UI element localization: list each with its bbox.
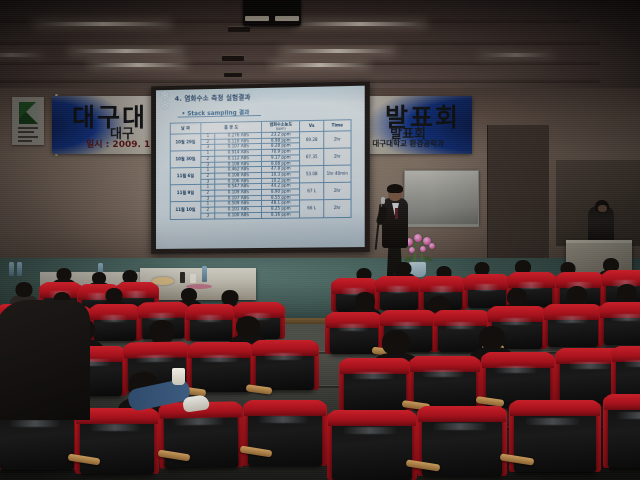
cell-vs: 69.28	[300, 131, 324, 149]
th-date: 날 짜	[170, 123, 200, 135]
slide-results-table: 날 짜 흡 광 도 염화수소농도 (ppm) Vs Time 10월 29일10…	[170, 119, 352, 219]
auditorium-seat[interactable]	[604, 306, 640, 345]
cell-vs: 67.35	[300, 149, 324, 167]
audience-head	[236, 316, 260, 337]
whiteboard-marker-tray	[405, 224, 479, 227]
wall-door	[487, 125, 549, 275]
auditorium-seat[interactable]	[548, 308, 598, 347]
podium-operator-face	[598, 205, 607, 212]
audience-head	[222, 290, 239, 305]
th-time: Time	[324, 120, 351, 132]
water-bottle	[202, 266, 207, 282]
cell-vs: 53.08	[300, 166, 324, 184]
microphone-icon	[381, 197, 385, 204]
auditorium-seat[interactable]	[192, 346, 250, 392]
whiteboard	[404, 170, 479, 225]
cell-date: 10월 29일	[170, 134, 200, 152]
cell-date: 11월 10일	[170, 202, 200, 219]
conference-room-photo: 대구대 발표회 대구 발표회 일시 : 2009. 11. 20 대구대학교 환…	[0, 0, 640, 480]
cell-vs: 66 L	[300, 200, 324, 217]
cell-time: 2hr	[324, 200, 351, 218]
audience-head	[57, 268, 72, 281]
cell-date: 11월 9일	[170, 185, 200, 202]
table-body: 10월 29일10.276 ABS23.2 ppm69.282hr20.110 …	[170, 131, 351, 219]
cell-time: 1hr 40min	[324, 165, 351, 183]
audience-head	[567, 286, 587, 304]
auditorium-seat[interactable]	[344, 362, 406, 412]
beverage-can	[180, 272, 185, 283]
auditorium-seat[interactable]	[190, 308, 232, 341]
snowflake-icon: ❄❄	[158, 91, 172, 119]
auditorium-seat[interactable]	[256, 344, 314, 390]
audience-head	[181, 288, 197, 302]
slide-title: 4. 염화수소 측정 실험결과	[175, 91, 251, 103]
paper-cup	[190, 274, 196, 283]
water-bottle	[9, 262, 14, 276]
audience-head	[16, 282, 33, 297]
cell-absorbance: 0.100 ABS	[215, 212, 262, 218]
cell-vs: 67 L	[300, 183, 324, 201]
orchid-flower	[420, 246, 426, 252]
projection-screen-frame: ❄❄ 4. 염화수소 측정 실험결과 Stack sampling 결과 날 짜…	[151, 82, 370, 254]
slide-bullet-text: Stack sampling 결과	[182, 107, 250, 117]
audience-head	[355, 292, 375, 310]
presentation-slide: ❄❄ 4. 염화수소 측정 실험결과 Stack sampling 결과 날 짜…	[156, 86, 365, 249]
auditorium-seat[interactable]	[330, 316, 378, 354]
cell-time: 2hr	[324, 148, 351, 166]
orchid-flower	[409, 247, 415, 253]
auditorium-seat[interactable]	[332, 414, 412, 480]
audience-head	[617, 284, 637, 302]
audience-head	[92, 272, 106, 284]
auditorium-seat[interactable]	[380, 280, 418, 310]
th-conc-unit: (ppm)	[262, 127, 299, 131]
presenter-hair	[387, 184, 403, 193]
audience-head	[149, 320, 175, 343]
coffee-cup	[172, 368, 185, 385]
orchid-flower	[414, 234, 422, 242]
audience-head	[382, 330, 410, 355]
slide-bullet: Stack sampling 결과	[178, 106, 261, 118]
projection-screen[interactable]: ❄❄ 4. 염화수소 측정 실험결과 Stack sampling 결과 날 짜…	[156, 86, 365, 249]
audience-head	[479, 326, 505, 349]
auditorium-seat[interactable]	[608, 398, 640, 468]
audience-head	[507, 288, 527, 306]
audience-head	[106, 288, 123, 303]
cell-concentration: 8.16 ppm	[262, 212, 300, 218]
presenter-tie	[395, 208, 398, 219]
cell-date: 11월 6일	[170, 168, 200, 185]
orchid-flower	[429, 243, 435, 249]
cell-time: 2hr	[324, 183, 351, 201]
water-bottle	[17, 262, 22, 276]
auditorium-seat[interactable]	[248, 404, 322, 466]
th-vs: Vs	[300, 120, 324, 131]
wall-poster	[12, 97, 44, 145]
cell-date: 10월 30일	[170, 151, 200, 169]
audience-head	[397, 262, 412, 275]
cell-time: 2hr	[324, 131, 351, 149]
foreground-audience-member	[0, 300, 90, 420]
cell-sample-no: 3	[201, 213, 215, 219]
auditorium-seat[interactable]	[80, 412, 154, 474]
